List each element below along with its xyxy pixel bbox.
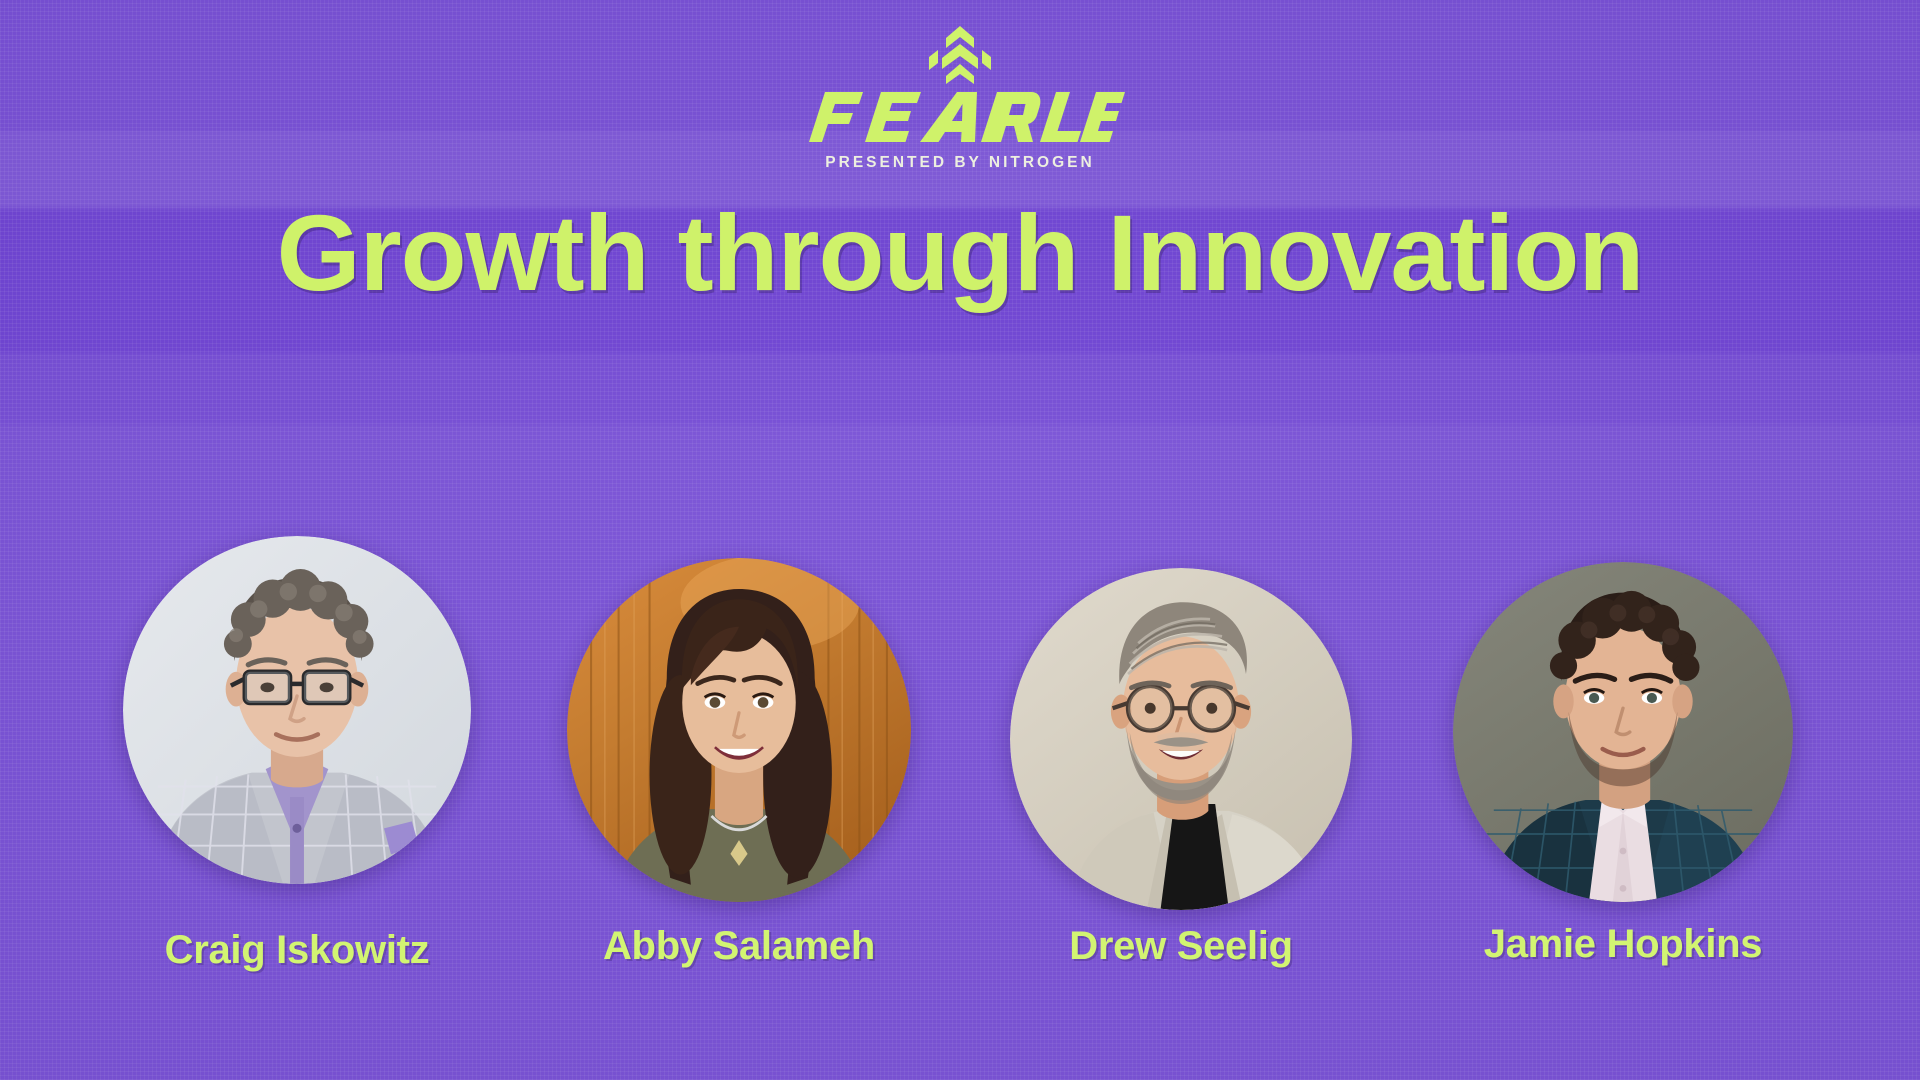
avatar bbox=[567, 558, 911, 902]
speaker-row: Craig Iskowitz bbox=[0, 540, 1920, 973]
avatar bbox=[1010, 568, 1352, 910]
portrait-jamie-hopkins bbox=[1453, 562, 1793, 902]
speaker-card[interactable]: Craig Iskowitz bbox=[97, 540, 497, 973]
speaker-card[interactable]: Jamie Hopkins bbox=[1423, 540, 1823, 967]
fearless-chevron-mark-icon bbox=[925, 24, 995, 84]
fearless-wordmark bbox=[795, 86, 1125, 148]
portrait-craig-iskowitz bbox=[123, 536, 471, 884]
speaker-name: Jamie Hopkins bbox=[1484, 922, 1762, 967]
avatar bbox=[123, 536, 471, 884]
speaker-card[interactable]: Abby Salameh bbox=[539, 540, 939, 969]
speaker-name: Abby Salameh bbox=[603, 924, 875, 969]
page-title: Growth through Innovation bbox=[0, 196, 1920, 309]
presentation-slide: PRESENTED BY NITROGEN Growth through Inn… bbox=[0, 0, 1920, 1080]
logo-tagline: PRESENTED BY NITROGEN bbox=[825, 154, 1094, 172]
brand-logo: PRESENTED BY NITROGEN bbox=[720, 24, 1200, 172]
portrait-abby-salameh bbox=[567, 558, 911, 902]
speaker-name: Craig Iskowitz bbox=[165, 928, 430, 973]
avatar bbox=[1453, 562, 1793, 902]
portrait-drew-seelig bbox=[1010, 568, 1352, 910]
speaker-name: Drew Seelig bbox=[1069, 924, 1292, 969]
speaker-card[interactable]: Drew Seelig bbox=[981, 540, 1381, 969]
